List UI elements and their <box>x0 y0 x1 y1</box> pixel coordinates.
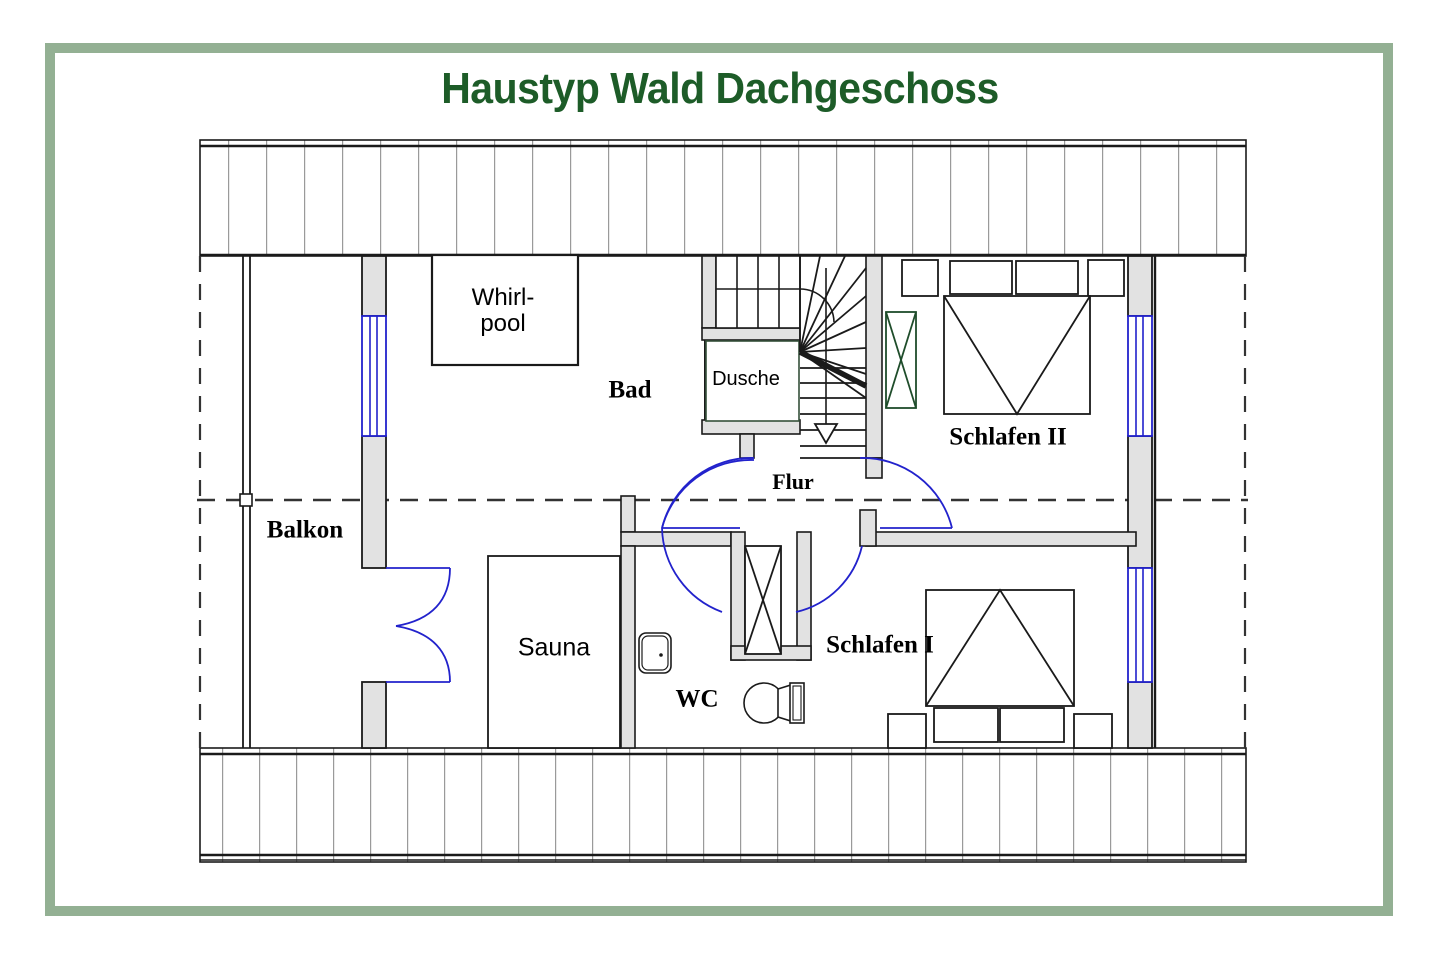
door-swing-flur-left <box>662 460 754 528</box>
roof-band-top <box>200 140 1246 256</box>
toilet <box>744 683 804 723</box>
room-label-wc: WC <box>675 686 718 713</box>
door-schlafen2 <box>886 312 916 408</box>
bed-schlafen2 <box>902 260 1124 414</box>
door-wc <box>745 546 781 654</box>
bed-schlafen1 <box>888 590 1112 748</box>
room-label-schlafen-2: Schlafen II <box>949 424 1066 451</box>
window-left <box>362 316 386 436</box>
room-label-bad: Bad <box>608 377 651 404</box>
window-right-upper <box>1128 316 1152 436</box>
washbasin <box>639 633 671 673</box>
window-right-lower <box>1128 568 1152 682</box>
room-label-flur: Flur <box>772 470 814 494</box>
room-label-schlafen-1: Schlafen I <box>826 632 934 659</box>
balcony-door-swing <box>386 568 450 682</box>
room-label-whirlpool: Whirl- pool <box>472 285 535 337</box>
room-label-balkon: Balkon <box>267 517 343 544</box>
room-label-sauna: Sauna <box>518 635 590 662</box>
floorplan-page: Haustyp Wald Dachgeschoss <box>0 0 1440 960</box>
room-label-dusche: Dusche <box>712 369 780 391</box>
floorplan-drawing <box>0 0 1440 960</box>
roof-band-bottom <box>200 748 1246 862</box>
balcony-railing <box>240 256 252 748</box>
